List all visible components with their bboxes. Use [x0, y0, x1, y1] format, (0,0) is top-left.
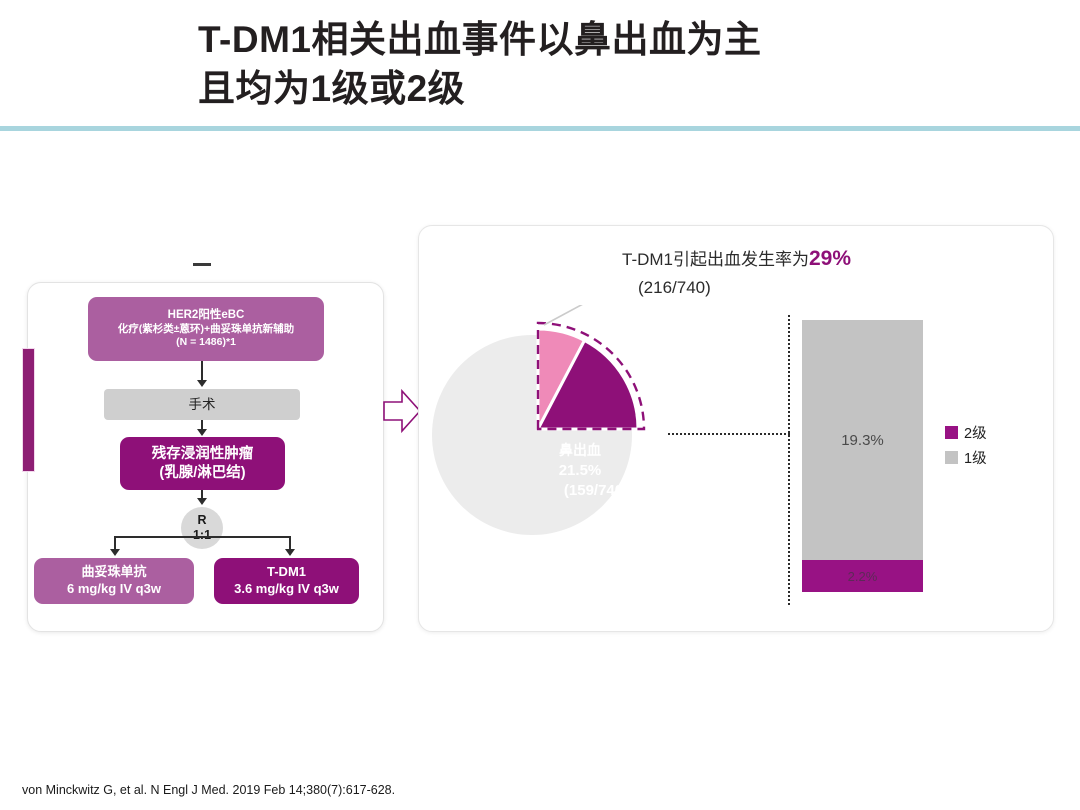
flowchart-box-trastuzumab-arm: 曲妥珠单抗 6 mg/kg IV q3w [34, 558, 194, 604]
flow-arrow-2-head [197, 429, 207, 436]
flowchart-box-her2-population: HER2阳性eBC 化疗(紫杉类±蒽环)+曲妥珠单抗新辅助 (N = 1486)… [88, 297, 324, 361]
pie-label-epistaxis-percent: 21.5% [559, 462, 602, 479]
legend-label-grade2: 2级 [964, 422, 987, 443]
bar-segment-grade2-label: 2.2% [848, 569, 878, 584]
pie-leader-line [544, 305, 596, 325]
page-title: T-DM1相关出血事件以鼻出血为主 且均为1级或2级 [198, 16, 1018, 114]
legend-item-grade2: 2级 [945, 422, 987, 443]
flow-split-right-line [289, 536, 291, 550]
pie-to-bar-connector [668, 433, 790, 435]
flow-arrow-3-head [197, 498, 207, 505]
flow-arrow-1-line [201, 361, 203, 381]
flow-split-right-head [285, 549, 295, 556]
flow-split-line [114, 536, 290, 538]
grade-legend: 2级 1级 [945, 422, 987, 472]
randomization-letter: R [197, 513, 206, 528]
pie-label-epistaxis-name: 鼻出血 [559, 442, 601, 458]
surgery-box-label: 手术 [189, 396, 216, 413]
grade-stacked-bar-chart: 19.3% 2.2% [802, 320, 923, 592]
trastuzumab-arm-line1: 曲妥珠单抗 [81, 564, 146, 581]
flow-split-left-head [110, 549, 120, 556]
pie-label-epistaxis-fraction: (159/740) [564, 482, 628, 499]
bar-guide-line [788, 315, 790, 605]
legend-label-grade1: 1级 [964, 447, 987, 468]
callout-prefix: T-DM1引起出血发生率为 [622, 250, 809, 269]
legend-swatch-grade2 [945, 426, 958, 439]
flowchart-box-surgery: 手术 [104, 389, 300, 420]
title-divider [0, 126, 1080, 131]
bar-segment-grade1: 19.3% [802, 320, 923, 560]
citation: von Minckwitz G, et al. N Engl J Med. 20… [22, 783, 395, 797]
callout-fraction: (216/740) [622, 275, 912, 301]
bleeding-pie-chart: 鼻出血 21.5% (159/740) [428, 305, 688, 565]
flowchart-box-tdm1-arm: T-DM1 3.6 mg/kg IV q3w [214, 558, 359, 604]
legend-item-grade1: 1级 [945, 447, 987, 468]
flow-split-left-line [114, 536, 116, 550]
bleeding-rate-callout: T-DM1引起出血发生率为29% (216/740) [622, 243, 912, 300]
her2-box-line2: 化疗(紫杉类±蒽环)+曲妥珠单抗新辅助 [118, 323, 294, 336]
legend-swatch-grade1 [945, 451, 958, 464]
her2-box-line3: (N = 1486)*1 [176, 336, 236, 349]
residual-box-line2: (乳腺/淋巴结) [159, 464, 245, 483]
residual-box-line1: 残存浸润性肿瘤 [152, 445, 254, 464]
flowchart-accent-bar [22, 348, 35, 472]
flowchart-box-residual-disease: 残存浸润性肿瘤 (乳腺/淋巴结) [120, 437, 285, 490]
callout-percent: 29% [809, 247, 851, 270]
tdm1-arm-line2: 3.6 mg/kg IV q3w [234, 581, 339, 598]
trastuzumab-arm-line2: 6 mg/kg IV q3w [67, 581, 161, 598]
randomization-node: R 1:1 [181, 507, 223, 549]
flow-arrow-1-head [197, 380, 207, 387]
her2-box-line1: HER2阳性eBC [168, 308, 245, 323]
tdm1-arm-line1: T-DM1 [267, 564, 306, 581]
flowchart-tick-mark [193, 263, 211, 266]
bar-segment-grade2: 2.2% [802, 560, 923, 592]
transition-arrow-icon [382, 388, 422, 434]
bar-segment-grade1-label: 19.3% [841, 432, 884, 449]
